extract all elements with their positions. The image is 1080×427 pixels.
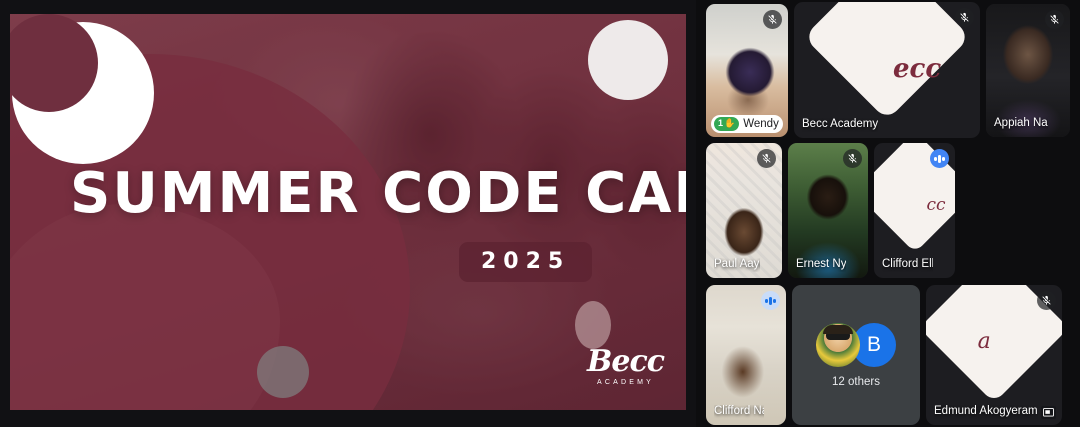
decorative-ring-inner	[10, 14, 98, 112]
participant-tile[interactable]: Clifford Nan...	[706, 285, 786, 425]
participant-name-pill: 1✋Wendy ...	[711, 115, 783, 133]
logo-wordmark: Becc	[587, 347, 664, 377]
decorative-grey-circle-1	[257, 346, 309, 398]
mic-muted-icon	[1045, 10, 1064, 29]
participant-name: Clifford Elliot	[882, 258, 933, 272]
participant-filmstrip: 1✋Wendy ...Becc AcademyAppiah Nao... Pau…	[696, 0, 1080, 427]
mic-muted-icon	[1037, 291, 1056, 310]
participant-name: Paul Aayire	[714, 258, 760, 272]
participant-tile[interactable]: Appiah Nao...	[986, 4, 1070, 137]
screen-share-icon[interactable]	[1041, 406, 1056, 419]
decorative-white-ring	[12, 22, 154, 164]
participant-tile[interactable]: Clifford Elliot	[874, 143, 955, 278]
participant-tile[interactable]: Ernest Nyarko	[788, 143, 868, 278]
mic-muted-icon	[757, 149, 776, 168]
shared-screen-region[interactable]: SUMMER CODE CAMP 2025 Becc ACADEMY	[0, 0, 696, 427]
participant-tile[interactable]: Paul Aayire	[706, 143, 782, 278]
hand-raise-icon: ✋	[724, 118, 735, 130]
presentation-slide[interactable]: SUMMER CODE CAMP 2025 Becc ACADEMY	[10, 14, 686, 410]
participant-name: Edmund Akogyeram	[934, 405, 1038, 419]
logo-subtitle: ACADEMY	[587, 379, 664, 386]
avatar-photo	[816, 323, 860, 367]
filmstrip-row-2: Paul AayireErnest NyarkoClifford Elliot	[696, 143, 1080, 278]
participant-tile[interactable]: Becc Academy	[794, 2, 980, 138]
participant-tile-overflow[interactable]: B12 others	[792, 285, 920, 425]
slide-title: SUMMER CODE CAMP	[70, 166, 630, 222]
mic-muted-icon	[955, 8, 974, 27]
participant-name: Appiah Nao...	[994, 117, 1048, 131]
overflow-count-label: 12 others	[832, 376, 880, 388]
overflow-avatars: B	[816, 323, 896, 367]
filmstrip-row-1: 1✋Wendy ...Becc AcademyAppiah Nao...	[696, 2, 1080, 138]
speaking-indicator-icon	[930, 149, 949, 168]
zoom-meeting-window: SUMMER CODE CAMP 2025 Becc ACADEMY 1✋Wen…	[0, 0, 1080, 427]
mic-muted-icon	[763, 10, 782, 29]
filmstrip-row-3: Clifford Nan...B12 othersEdmund Akogyera…	[696, 285, 1080, 425]
hand-raise-badge: 1✋	[714, 117, 739, 131]
participant-name: Ernest Nyarko	[796, 258, 846, 272]
decorative-white-circle	[588, 20, 668, 100]
participant-name: Clifford Nan...	[714, 405, 764, 419]
participant-name: Becc Academy	[802, 118, 878, 132]
becc-academy-logo: Becc ACADEMY	[587, 347, 664, 386]
mic-muted-icon	[843, 149, 862, 168]
decorative-grey-circle-2	[575, 301, 611, 349]
participant-tile[interactable]: Edmund Akogyeram	[926, 285, 1062, 425]
participant-tile[interactable]: 1✋Wendy ...	[706, 4, 788, 137]
speaking-indicator-icon	[761, 291, 780, 310]
hand-raise-count: 1	[718, 118, 723, 130]
slide-year-badge: 2025	[459, 242, 592, 282]
participant-name: Wendy ...	[743, 118, 783, 130]
